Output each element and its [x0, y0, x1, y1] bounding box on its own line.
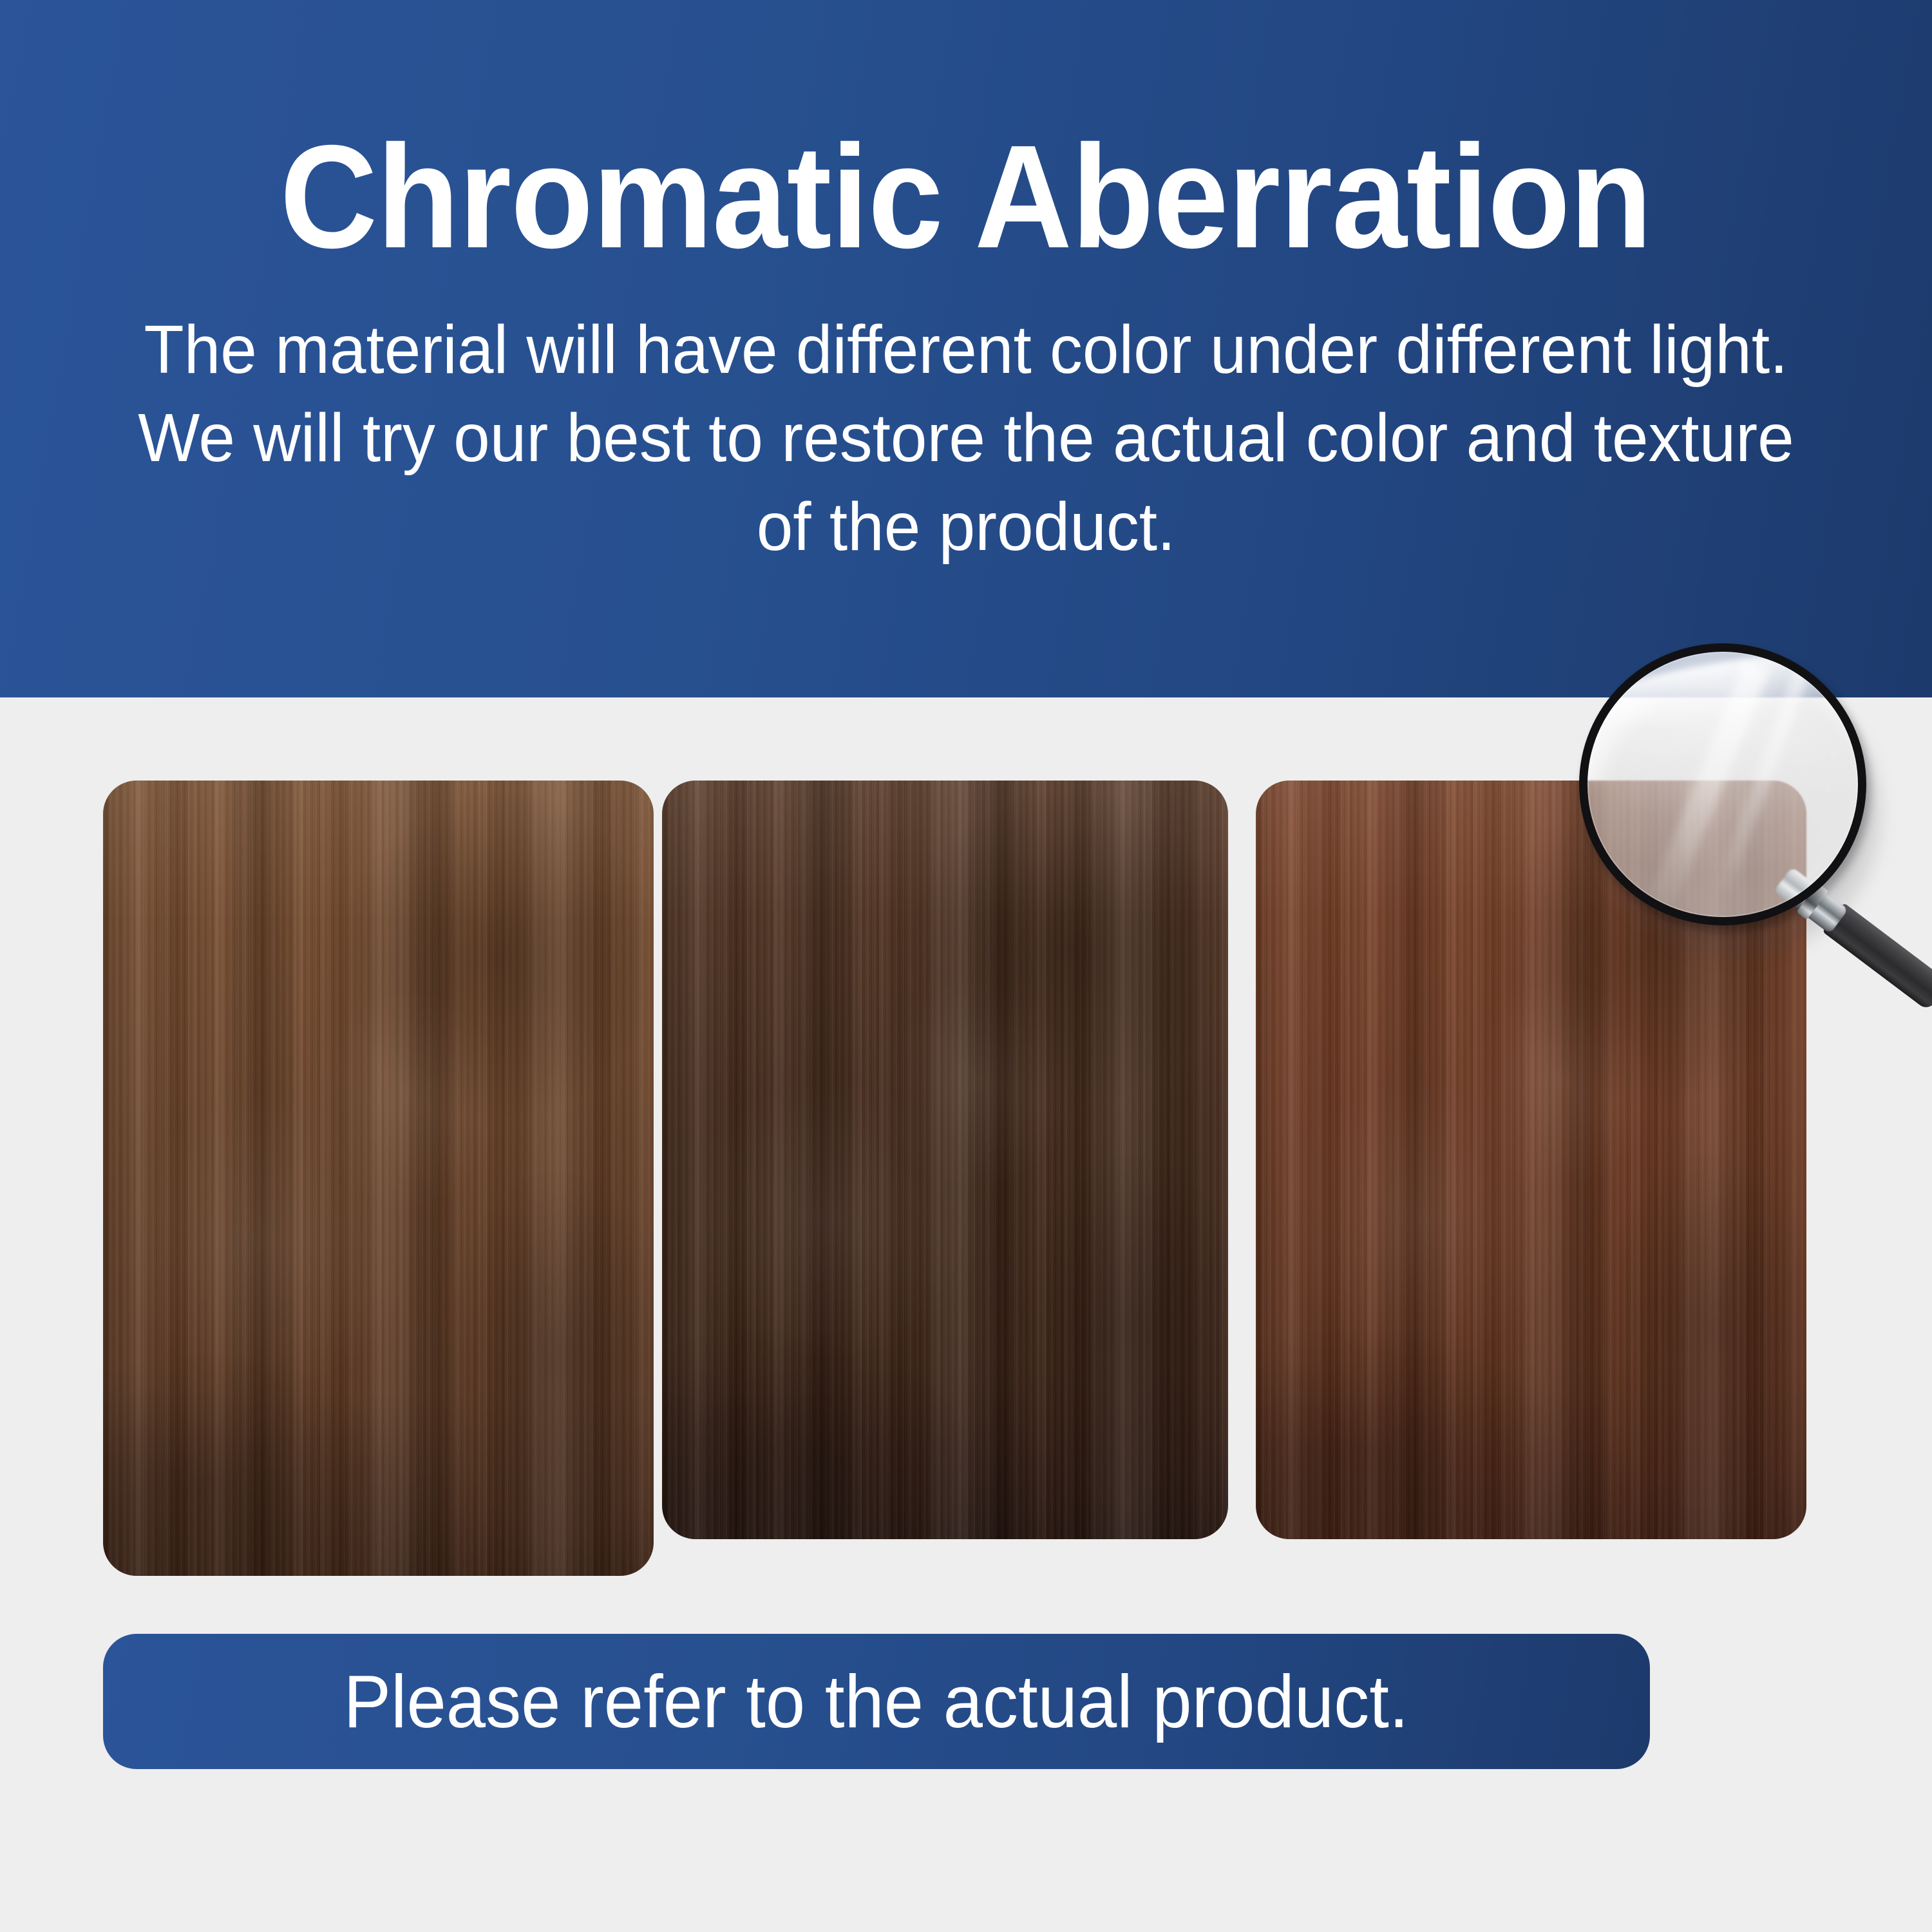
swatch-left[interactable] [103, 781, 654, 1576]
refer-to-actual-product-button[interactable]: Please refer to the actual product. [103, 1634, 1650, 1769]
page-title: Chromatic Aberration [280, 122, 1652, 272]
swatch-center[interactable] [662, 781, 1228, 1539]
swatch-right-shading [1256, 781, 1806, 1539]
swatch-right[interactable] [1256, 781, 1806, 1539]
swatch-gallery [0, 697, 1932, 1599]
swatch-center-shading [662, 781, 1228, 1539]
refer-to-actual-product-label: Please refer to the actual product. [344, 1664, 1409, 1739]
header-subtitle: The material will have different color u… [125, 306, 1806, 572]
header-banner: Chromatic Aberration The material will h… [0, 0, 1932, 697]
swatch-left-shading [103, 781, 654, 1576]
